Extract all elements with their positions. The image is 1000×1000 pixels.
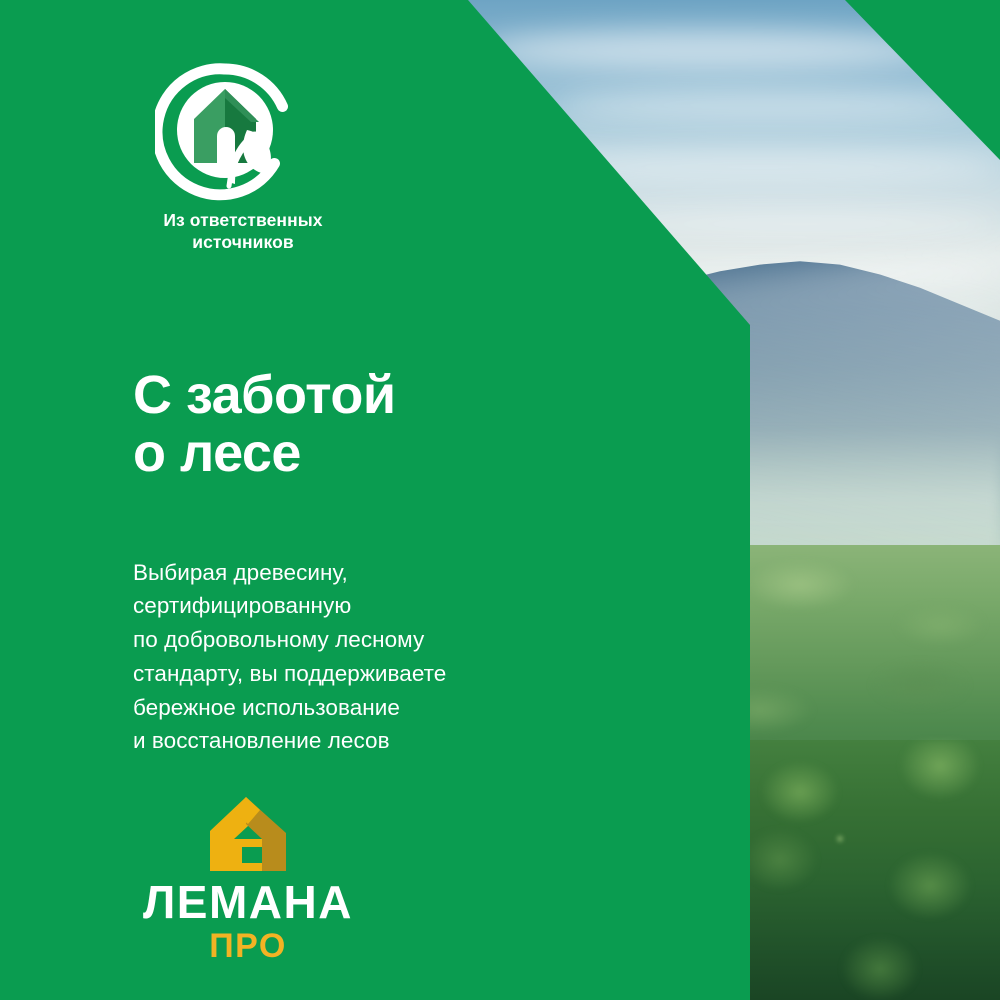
brand-subtitle: ПРО	[133, 929, 363, 963]
body-line-4: стандарту, вы поддерживаете	[133, 657, 446, 691]
body-line-6: и восстановление лесов	[133, 724, 446, 758]
certification-mark: Из ответственных источников	[133, 62, 393, 254]
certification-caption-line1: Из ответственных	[163, 210, 322, 230]
headline: С заботой о лесе	[133, 366, 396, 483]
brand-lockup: ЛЕМАНА ПРО	[133, 795, 363, 963]
body-line-3: по добровольному лесному	[133, 623, 446, 657]
poster-canvas: Из ответственных источников С заботой о …	[0, 0, 1000, 1000]
headline-line1: С заботой	[133, 366, 396, 424]
body-copy: Выбирая древесину, сертифицированную по …	[133, 556, 446, 759]
certification-caption: Из ответственных источников	[133, 210, 353, 254]
poster-content: Из ответственных источников С заботой о …	[0, 0, 1000, 1000]
headline-line2: о лесе	[133, 424, 396, 482]
body-line-5: бережное использование	[133, 691, 446, 725]
body-line-2: сертифицированную	[133, 589, 446, 623]
responsible-sources-seal-icon	[155, 62, 295, 202]
house-roof-logo-icon	[200, 795, 296, 873]
brand-name: ЛЕМАНА	[133, 879, 363, 925]
body-line-1: Выбирая древесину,	[133, 556, 446, 590]
certification-caption-line2: источников	[133, 232, 353, 254]
